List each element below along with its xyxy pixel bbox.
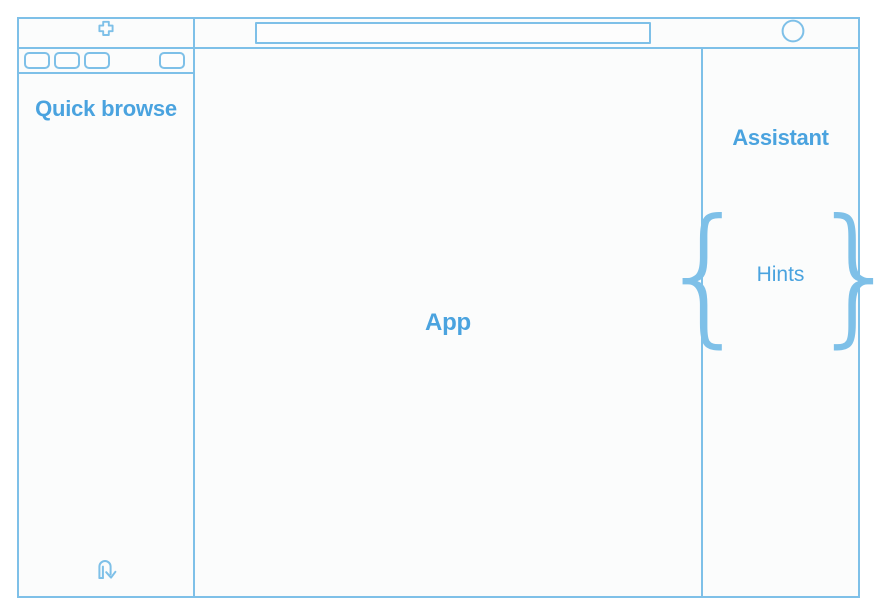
circle-icon xyxy=(780,18,806,49)
add-button[interactable] xyxy=(19,19,195,47)
tab-three[interactable] xyxy=(84,52,110,69)
tab-action[interactable] xyxy=(159,52,185,69)
sidebar-footer xyxy=(19,553,193,588)
hints-label: Hints xyxy=(755,263,807,287)
sidebar-title: Quick browse xyxy=(19,96,193,122)
top-bar xyxy=(19,19,858,49)
sidebar-tab-group xyxy=(24,52,110,69)
tab-one[interactable] xyxy=(24,52,50,69)
assistant-title: Assistant xyxy=(732,125,828,151)
search-bar-container xyxy=(195,19,728,47)
close-brace-icon: } xyxy=(808,221,879,329)
sidebar-tab-strip xyxy=(19,49,193,74)
tab-two[interactable] xyxy=(54,52,80,69)
open-brace-icon: { xyxy=(657,221,752,329)
app-wireframe-window: Quick browse App Assis xyxy=(17,17,860,598)
window-body: Quick browse App Assis xyxy=(19,49,858,596)
sidebar-panel: Quick browse xyxy=(19,49,195,596)
plus-icon xyxy=(94,19,118,48)
u-turn-arrow-icon[interactable] xyxy=(91,553,121,588)
search-input[interactable] xyxy=(255,22,651,44)
main-app-panel: App xyxy=(195,49,703,596)
sidebar-content: Quick browse xyxy=(19,74,193,596)
main-panel-title: App xyxy=(425,309,471,337)
hints-block: { Hints } xyxy=(657,221,879,329)
account-button[interactable] xyxy=(728,19,858,47)
assistant-panel: Assistant { Hints } xyxy=(703,49,858,596)
